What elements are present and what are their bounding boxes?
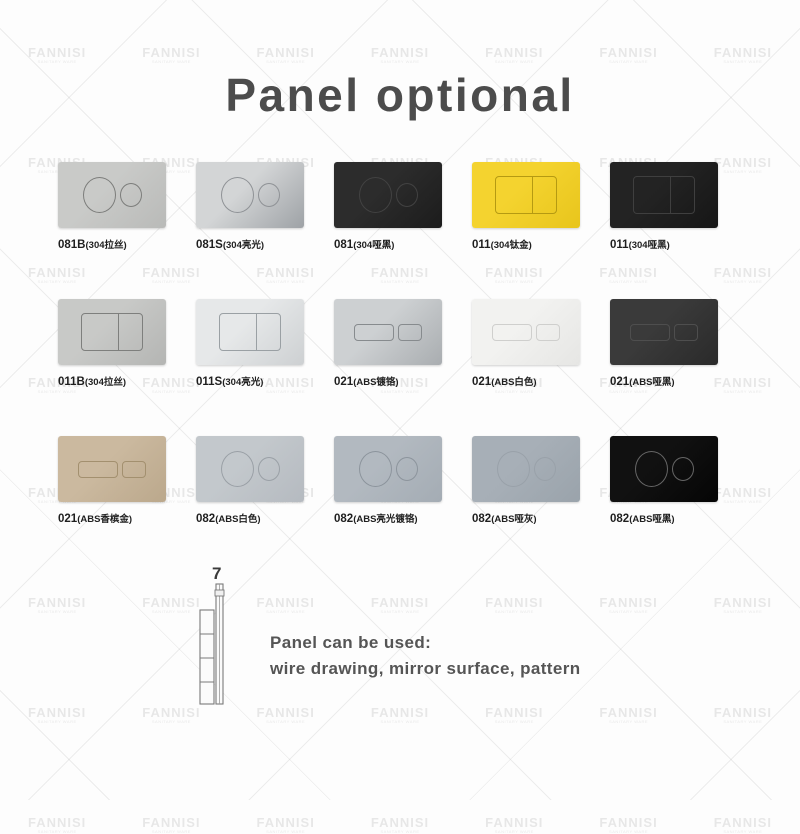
panel-spec: (ABS镀铬): [353, 377, 398, 388]
flush-button-small[interactable]: [533, 177, 556, 213]
panel-spec: (304钛金): [491, 240, 532, 251]
flush-button-large[interactable]: [630, 324, 670, 341]
panel-011-black[interactable]: [610, 162, 718, 228]
panel-082-white[interactable]: [196, 436, 304, 502]
panel-code: 082: [472, 513, 491, 525]
panel-code: 011B: [58, 376, 85, 388]
flush-button-split[interactable]: [633, 176, 695, 214]
watermark-mark: FANNISISANITARY WARE: [142, 816, 200, 834]
panel-buttons: [610, 436, 718, 502]
flush-button-small[interactable]: [396, 457, 418, 481]
panel-code: 011: [472, 239, 491, 251]
flush-button-small[interactable]: [671, 177, 694, 213]
panel-label: 021(ABS香槟金): [58, 511, 132, 525]
panel-buttons: [472, 162, 580, 228]
panel-code: 082: [196, 513, 215, 525]
flush-button-small[interactable]: [258, 457, 280, 481]
panel-spec: (304哑黑): [629, 240, 670, 251]
panel-label: 021(ABS哑黑): [610, 374, 675, 388]
bottom-section: 7 Panel can be used: wire drawing, mirro…: [196, 568, 581, 708]
panel-label: 082(ABS亮光镀铬): [334, 511, 418, 525]
flush-button-small[interactable]: [396, 183, 418, 207]
panel-code: 011: [610, 239, 629, 251]
watermark-mark: FANNISISANITARY WARE: [28, 816, 86, 834]
panel-grid: 081B(304拉丝)081S(304亮光)081(304哑黑)011(304钛…: [58, 162, 748, 525]
panel-011-gold[interactable]: [472, 162, 580, 228]
panel-081[interactable]: [334, 162, 442, 228]
panel-code: 021: [610, 376, 629, 388]
panel-082-gray[interactable]: [472, 436, 580, 502]
panel-code: 021: [58, 513, 77, 525]
flush-button-large[interactable]: [359, 451, 392, 487]
watermark-subtext: SANITARY WARE: [28, 830, 86, 834]
panel-cell: 082(ABS哑黑): [610, 436, 748, 525]
panel-label: 011S(304亮光): [196, 374, 263, 388]
bottom-line-2: wire drawing, mirror surface, pattern: [270, 656, 581, 682]
flush-button-large[interactable]: [83, 177, 116, 213]
flush-button-small[interactable]: [120, 183, 142, 207]
panel-cell: 011(304钛金): [472, 162, 610, 251]
watermark-mark: FANNISISANITARY WARE: [599, 816, 657, 834]
panel-buttons: [58, 162, 166, 228]
panel-buttons: [334, 436, 442, 502]
panel-spec: (304拉丝): [85, 377, 126, 388]
panel-082-chrome[interactable]: [334, 436, 442, 502]
panel-label: 082(ABS白色): [196, 511, 261, 525]
panel-label: 021(ABS镀铬): [334, 374, 399, 388]
flush-button-split[interactable]: [81, 313, 143, 351]
panel-spec: (ABS哑灰): [491, 514, 536, 525]
panel-cell: 011S(304亮光): [196, 299, 334, 388]
flush-button-small[interactable]: [398, 324, 422, 341]
bottom-line-1: Panel can be used:: [270, 630, 581, 656]
panel-spec: (ABS香槟金): [77, 514, 132, 525]
panel-cell: 081(304哑黑): [334, 162, 472, 251]
panel-buttons: [196, 162, 304, 228]
flush-button-large[interactable]: [634, 177, 671, 213]
panel-011b[interactable]: [58, 299, 166, 365]
panel-spec: (ABS亮光镀铬): [353, 514, 417, 525]
panel-cell: 021(ABS哑黑): [610, 299, 748, 388]
flush-button-large[interactable]: [221, 451, 254, 487]
watermark-subtext: SANITARY WARE: [714, 830, 772, 834]
page-title: Panel optional: [0, 68, 800, 122]
panel-cell: 082(ABS亮光镀铬): [334, 436, 472, 525]
panel-label: 082(ABS哑黑): [610, 511, 675, 525]
flush-button-large[interactable]: [82, 314, 119, 350]
panel-buttons: [610, 299, 718, 365]
flush-button-large[interactable]: [497, 451, 530, 487]
panel-code: 021: [334, 376, 353, 388]
panel-buttons: [334, 299, 442, 365]
flush-button-split[interactable]: [495, 176, 557, 214]
panel-spec: (304哑黑): [353, 240, 394, 251]
panel-code: 082: [610, 513, 629, 525]
panel-spec: (ABS哑黑): [629, 377, 674, 388]
panel-spec: (304拉丝): [86, 240, 127, 251]
watermark-mark: FANNISISANITARY WARE: [257, 816, 315, 834]
thickness-dimension-label: 7: [212, 564, 221, 584]
flush-button-small[interactable]: [534, 457, 556, 481]
panel-082-black[interactable]: [610, 436, 718, 502]
flush-button-small[interactable]: [258, 183, 280, 207]
watermark-subtext: SANITARY WARE: [257, 830, 315, 834]
panel-021-black[interactable]: [610, 299, 718, 365]
panel-code: 021: [472, 376, 491, 388]
flush-button-small[interactable]: [119, 314, 142, 350]
watermark-mark: FANNISISANITARY WARE: [714, 816, 772, 834]
side-profile-drawing: [196, 568, 244, 708]
panel-cell: 021(ABS白色): [472, 299, 610, 388]
panel-buttons: [196, 436, 304, 502]
panel-cell: 082(ABS白色): [196, 436, 334, 525]
flush-button-large[interactable]: [78, 461, 118, 478]
watermark-subtext: SANITARY WARE: [485, 830, 543, 834]
panel-021-white[interactable]: [472, 299, 580, 365]
flush-button-large[interactable]: [354, 324, 394, 341]
panel-spec: (304亮光): [223, 240, 264, 251]
panel-spec: (ABS白色): [215, 514, 260, 525]
panel-cell: 081B(304拉丝): [58, 162, 196, 251]
panel-label: 081S(304亮光): [196, 237, 264, 251]
watermark-subtext: SANITARY WARE: [371, 830, 429, 834]
panel-011s[interactable]: [196, 299, 304, 365]
panel-label: 081(304哑黑): [334, 237, 394, 251]
panel-label: 011(304哑黑): [610, 237, 670, 251]
flush-button-large[interactable]: [220, 314, 257, 350]
panel-cell: 021(ABS香槟金): [58, 436, 196, 525]
panel-cell: 011(304哑黑): [610, 162, 748, 251]
flush-button-large[interactable]: [635, 451, 668, 487]
flush-button-small[interactable]: [122, 461, 146, 478]
panel-buttons: [472, 436, 580, 502]
panel-label: 011(304钛金): [472, 237, 532, 251]
panel-label: 021(ABS白色): [472, 374, 537, 388]
panel-label: 082(ABS哑灰): [472, 511, 537, 525]
flush-button-small[interactable]: [672, 457, 694, 481]
bottom-description: Panel can be used: wire drawing, mirror …: [270, 630, 581, 683]
flush-button-split[interactable]: [219, 313, 281, 351]
flush-button-large[interactable]: [221, 177, 254, 213]
panel-spec: (ABS白色): [491, 377, 536, 388]
watermark-mark: FANNISISANITARY WARE: [371, 816, 429, 834]
panel-021-champagne[interactable]: [58, 436, 166, 502]
flush-button-large[interactable]: [496, 177, 533, 213]
flush-button-large[interactable]: [359, 177, 392, 213]
flush-button-small[interactable]: [674, 324, 698, 341]
panel-code: 081: [334, 239, 353, 251]
panel-081b[interactable]: [58, 162, 166, 228]
panel-code: 011S: [196, 376, 222, 388]
watermark-subtext: SANITARY WARE: [599, 830, 657, 834]
panel-cell: 081S(304亮光): [196, 162, 334, 251]
watermark-mark: FANNISISANITARY WARE: [485, 816, 543, 834]
panel-code: 081B: [58, 239, 86, 251]
panel-cell: 021(ABS镀铬): [334, 299, 472, 388]
watermark-subtext: SANITARY WARE: [142, 830, 200, 834]
panel-label: 081B(304拉丝): [58, 237, 127, 251]
panel-buttons: [196, 299, 304, 365]
panel-buttons: [58, 436, 166, 502]
panel-spec: (304亮光): [222, 377, 263, 388]
panel-cell: 082(ABS哑灰): [472, 436, 610, 525]
panel-spec: (ABS哑黑): [629, 514, 674, 525]
panel-side-profile: 7: [196, 568, 244, 708]
panel-buttons: [334, 162, 442, 228]
panel-buttons: [472, 299, 580, 365]
panel-code: 082: [334, 513, 353, 525]
flush-button-small[interactable]: [536, 324, 560, 341]
flush-button-large[interactable]: [492, 324, 532, 341]
panel-buttons: [58, 299, 166, 365]
flush-button-small[interactable]: [257, 314, 280, 350]
panel-label: 011B(304拉丝): [58, 374, 126, 388]
panel-021-chrome[interactable]: [334, 299, 442, 365]
panel-081s[interactable]: [196, 162, 304, 228]
panel-cell: 011B(304拉丝): [58, 299, 196, 388]
panel-buttons: [610, 162, 718, 228]
panel-code: 081S: [196, 239, 223, 251]
